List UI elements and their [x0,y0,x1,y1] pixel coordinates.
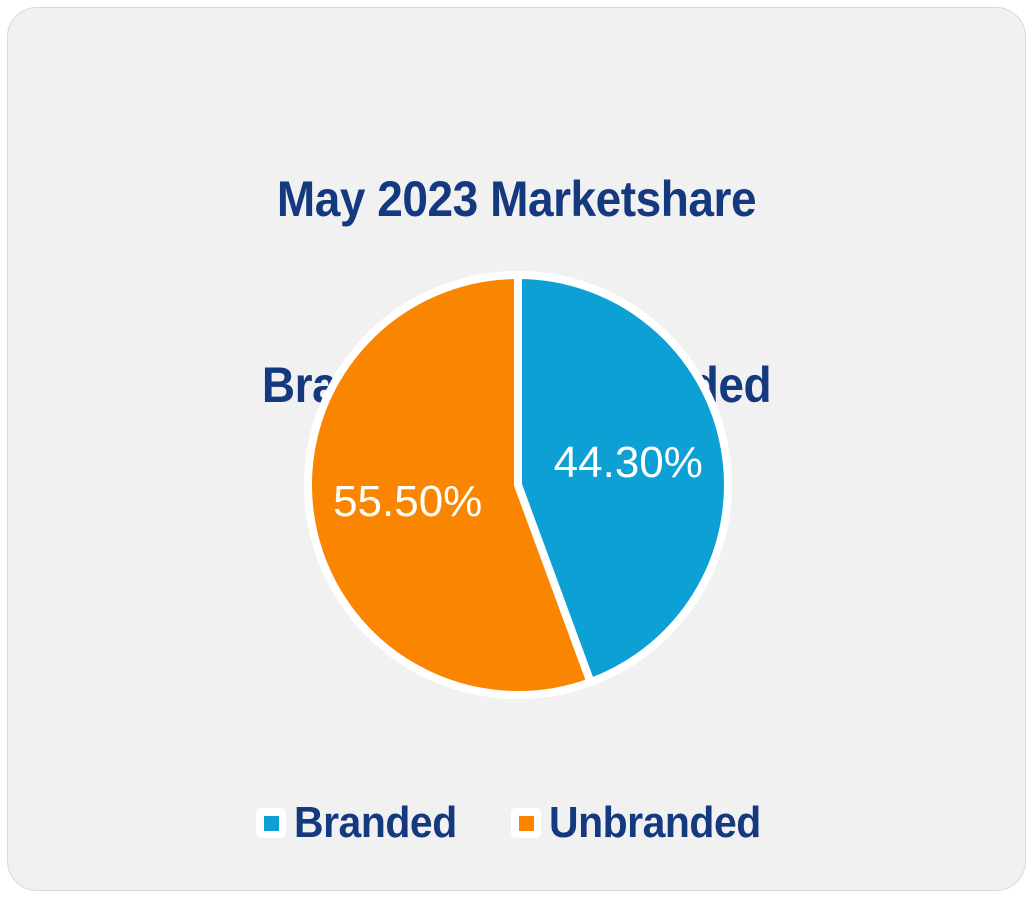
legend-swatch-unbranded-icon [519,816,534,831]
pie-chart-area: 44.30%55.50% [8,8,1026,891]
legend-swatch-branded-icon [264,816,279,831]
pie-data-label-branded: 44.30% [554,438,703,487]
legend-item-unbranded[interactable]: Unbranded [511,801,777,845]
legend-label-unbranded: Unbranded [549,801,761,845]
chart-legend: Branded Unbranded [8,801,1025,845]
pie-chart-svg: 44.30%55.50% [8,8,1026,891]
legend-chip-unbranded [511,808,541,838]
legend-item-branded[interactable]: Branded [256,801,469,845]
pie-data-label-unbranded: 55.50% [333,477,482,526]
legend-label-branded: Branded [294,801,457,845]
legend-chip-branded [256,808,286,838]
chart-card: May 2023 Marketshare Branded vs. Unbrand… [7,7,1026,891]
